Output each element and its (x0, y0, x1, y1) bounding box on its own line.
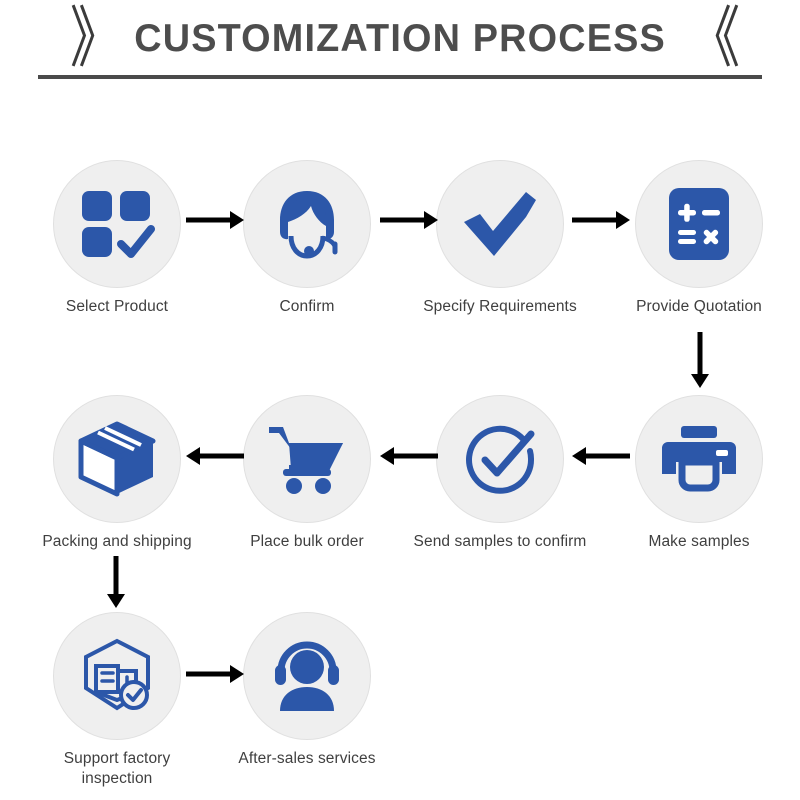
step-label: Provide Quotation (594, 297, 800, 317)
headset-person-icon (268, 641, 346, 711)
process-step-send-samples-to-confirm[interactable]: Send samples to confirm (415, 395, 585, 552)
arrow-step9-to-step10 (186, 663, 244, 685)
step-icon-circle (53, 160, 181, 288)
process-step-select-product[interactable]: Select Product (32, 160, 202, 317)
step-icon-circle (243, 612, 371, 740)
process-flow-diagram: Select Product Confirm Specify Requireme… (0, 0, 800, 800)
step-icon-circle (436, 160, 564, 288)
arrow-step7-to-step8 (186, 445, 244, 467)
step-label: Send samples to confirm (395, 532, 605, 552)
step-label: Specify Requirements (395, 297, 605, 317)
package-box-icon (78, 421, 156, 497)
step-icon-circle (436, 395, 564, 523)
process-step-confirm[interactable]: Confirm (222, 160, 392, 317)
process-step-place-bulk-order[interactable]: Place bulk order (222, 395, 392, 552)
process-step-specify-requirements[interactable]: Specify Requirements (415, 160, 585, 317)
calculator-icon (667, 186, 731, 262)
step-icon-circle (635, 395, 763, 523)
circle-check-icon (461, 420, 539, 498)
step-label: After-sales services (202, 749, 412, 769)
step-icon-circle (53, 612, 181, 740)
shopping-cart-icon (267, 423, 347, 495)
step-icon-circle (243, 395, 371, 523)
step-label: Make samples (614, 532, 784, 552)
process-step-provide-quotation[interactable]: Provide Quotation (614, 160, 784, 317)
step-label: Place bulk order (202, 532, 412, 552)
arrow-step6-to-step7 (380, 445, 438, 467)
printer-icon (660, 424, 738, 494)
step-icon-circle (243, 160, 371, 288)
step-icon-circle (635, 160, 763, 288)
factory-inspection-shield-icon (78, 638, 156, 714)
support-agent-icon (269, 186, 345, 262)
checkmark-icon (460, 189, 540, 259)
process-step-make-samples[interactable]: Make samples (614, 395, 784, 552)
step-label: Select Product (32, 297, 202, 317)
arrow-step3-to-step4 (572, 209, 630, 231)
process-step-after-sales-services[interactable]: After-sales services (222, 612, 392, 769)
arrow-step4-to-step5 (686, 332, 714, 388)
step-label: Confirm (222, 297, 392, 317)
grid-check-icon (79, 189, 155, 259)
step-label: Support factory inspection (12, 749, 222, 789)
arrow-step8-to-step9 (102, 556, 130, 608)
step-label: Packing and shipping (12, 532, 222, 552)
arrow-step5-to-step6 (572, 445, 630, 467)
arrow-step2-to-step3 (380, 209, 438, 231)
arrow-step1-to-step2 (186, 209, 244, 231)
process-step-support-factory-inspection[interactable]: Support factory inspection (32, 612, 202, 789)
process-step-packing-and-shipping[interactable]: Packing and shipping (32, 395, 202, 552)
step-icon-circle (53, 395, 181, 523)
